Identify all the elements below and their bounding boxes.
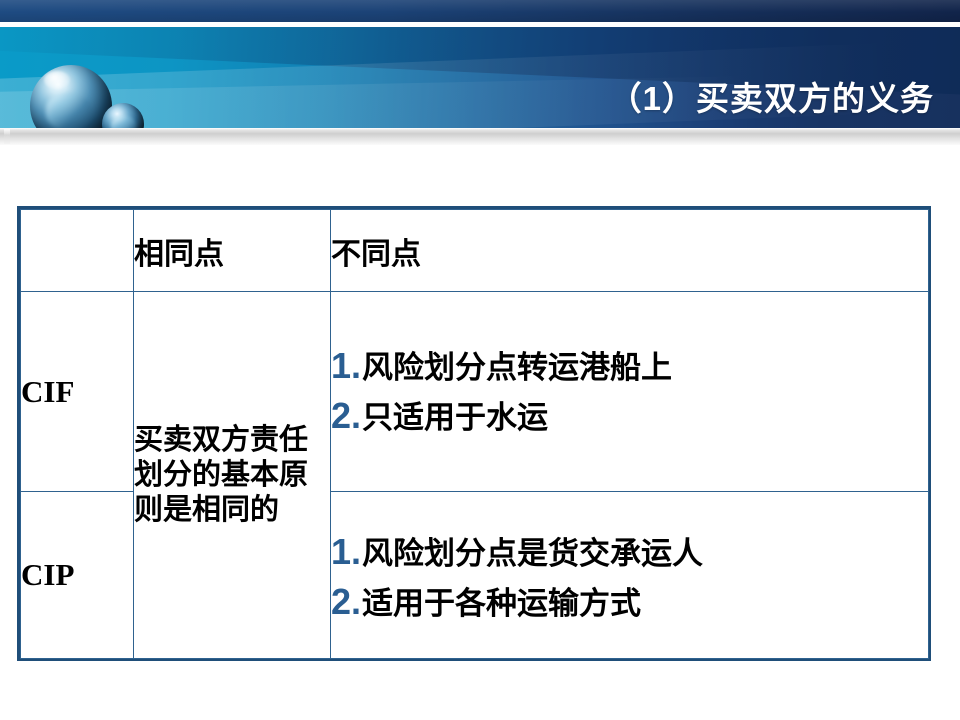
list-item-text: 只适用于水运	[362, 396, 548, 440]
diff-list-cif: 1. 风险划分点转运港船上 2. 只适用于水运	[331, 344, 928, 440]
diff-cell-cif: 1. 风险划分点转运港船上 2. 只适用于水运	[331, 292, 929, 492]
list-item-number: 1.	[331, 530, 361, 574]
slide-header: （1）买卖双方的义务	[0, 0, 960, 146]
header-cell-same: 相同点	[134, 210, 331, 292]
list-item: 2. 适用于各种运输方式	[331, 580, 928, 626]
sphere-logo	[22, 59, 152, 128]
header-cell-code	[21, 210, 134, 292]
list-item: 1. 风险划分点转运港船上	[331, 344, 928, 390]
diff-cell-cip: 1. 风险划分点是货交承运人 2. 适用于各种运输方式	[331, 492, 929, 659]
table-header-row: 相同点 不同点	[21, 210, 929, 292]
page-title: （1）买卖双方的义务	[609, 79, 934, 119]
header-cell-diff: 不同点	[331, 210, 929, 292]
comparison-table-frame: 相同点 不同点 CIF 买卖双方责任划分的基本原则是相同的 1. 风险划分点转运…	[17, 206, 931, 661]
list-item: 1. 风险划分点是货交承运人	[331, 530, 928, 576]
row-label-cif: CIF	[21, 292, 134, 492]
header-banner: （1）买卖双方的义务	[0, 27, 960, 128]
diff-list-cip: 1. 风险划分点是货交承运人 2. 适用于各种运输方式	[331, 530, 928, 626]
sphere-large-highlight	[44, 71, 70, 89]
header-underline-tick	[4, 129, 10, 144]
list-item-number: 2.	[331, 394, 361, 438]
list-item: 2. 只适用于水运	[331, 394, 928, 440]
list-item-text: 风险划分点是货交承运人	[362, 532, 703, 576]
list-item-number: 1.	[331, 344, 361, 388]
list-item-text: 风险划分点转运港船上	[362, 346, 672, 390]
sphere-large-icon	[30, 65, 112, 128]
list-item-text: 适用于各种运输方式	[362, 582, 641, 626]
same-point-cell: 买卖双方责任划分的基本原则是相同的	[134, 292, 331, 659]
header-top-band	[0, 0, 960, 22]
row-label-cip: CIP	[21, 492, 134, 659]
header-underline-strip	[0, 128, 960, 145]
comparison-table: 相同点 不同点 CIF 买卖双方责任划分的基本原则是相同的 1. 风险划分点转运…	[20, 209, 929, 659]
header-top-band-sheen	[0, 0, 960, 22]
table-row: CIF 买卖双方责任划分的基本原则是相同的 1. 风险划分点转运港船上 2. 只…	[21, 292, 929, 492]
list-item-number: 2.	[331, 580, 361, 624]
